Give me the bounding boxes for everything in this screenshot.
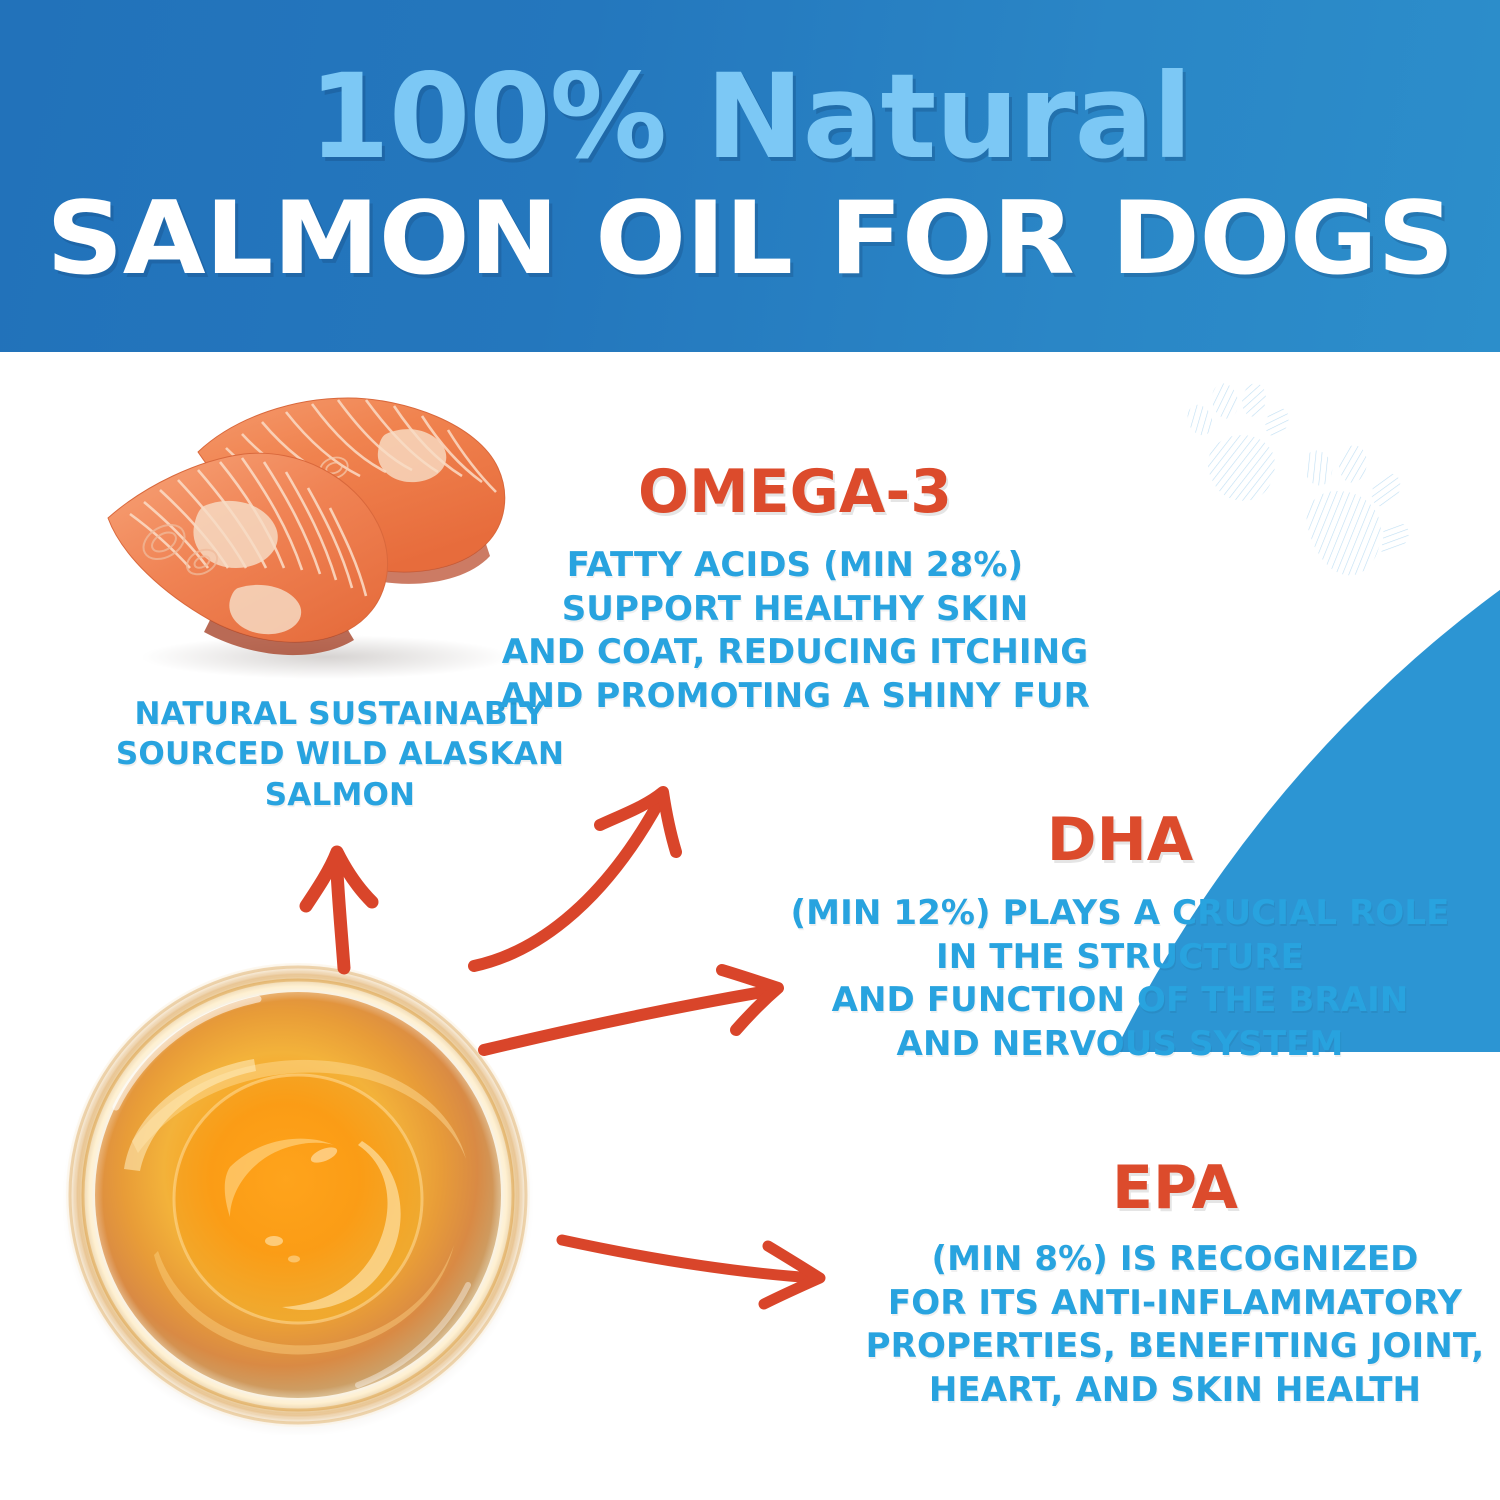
nutrient-body-line: AND COAT, REDUCING ITCHING: [400, 631, 1190, 675]
nutrient-body-epa: (MIN 8%) IS RECOGNIZED FOR ITS ANTI-INFL…: [860, 1238, 1490, 1412]
header-title-primary: 100% Natural: [0, 58, 1500, 175]
nutrient-body-line: SUPPORT HEALTHY SKIN: [400, 588, 1190, 632]
nutrient-body-omega3: FATTY ACIDS (MIN 28%) SUPPORT HEALTHY SK…: [400, 544, 1190, 718]
paw-print-icon: [1292, 442, 1416, 588]
salmon-caption-line: SOURCED WILD ALASKAN: [40, 734, 640, 774]
nutrient-body-line: AND PROMOTING A SHINY FUR: [400, 675, 1190, 719]
nutrient-body-line: FOR ITS ANTI-INFLAMMATORY: [860, 1282, 1490, 1326]
header-title-secondary: SALMON OIL FOR DOGS: [0, 188, 1500, 289]
nutrient-body-line: AND NERVOUS SYSTEM: [770, 1023, 1470, 1067]
paw-print-icon: [1178, 378, 1290, 510]
arrow-to-salmon-icon: [292, 836, 412, 976]
nutrient-title-epa: EPA: [860, 1158, 1490, 1218]
nutrient-block-omega3: OMEGA-3 FATTY ACIDS (MIN 28%) SUPPORT HE…: [400, 462, 1190, 718]
arrow-to-epa-icon: [556, 1216, 846, 1326]
arrow-to-dha-icon: [478, 928, 798, 1058]
nutrient-title-dha: DHA: [770, 810, 1470, 870]
nutrient-body-line: HEART, AND SKIN HEALTH: [860, 1369, 1490, 1413]
salmon-oil-bowl-image: [58, 955, 538, 1435]
nutrient-title-omega3: OMEGA-3: [400, 462, 1190, 522]
nutrient-body-line: FATTY ACIDS (MIN 28%): [400, 544, 1190, 588]
nutrient-body-line: (MIN 12%) PLAYS A CRUCIAL ROLE: [770, 892, 1470, 936]
nutrient-body-dha: (MIN 12%) PLAYS A CRUCIAL ROLE IN THE ST…: [770, 892, 1470, 1066]
nutrient-body-line: (MIN 8%) IS RECOGNIZED: [860, 1238, 1490, 1282]
nutrient-block-dha: DHA (MIN 12%) PLAYS A CRUCIAL ROLE IN TH…: [770, 810, 1470, 1066]
nutrient-body-line: PROPERTIES, BENEFITING JOINT,: [860, 1325, 1490, 1369]
nutrient-body-line: IN THE STRUCTURE: [770, 936, 1470, 980]
header-banner: 100% Natural SALMON OIL FOR DOGS: [0, 0, 1500, 352]
nutrient-block-epa: EPA (MIN 8%) IS RECOGNIZED FOR ITS ANTI-…: [860, 1158, 1490, 1412]
infographic-root: 100% Natural SALMON OIL FOR DOGS: [0, 0, 1500, 1500]
nutrient-body-line: AND FUNCTION OF THE BRAIN: [770, 979, 1470, 1023]
